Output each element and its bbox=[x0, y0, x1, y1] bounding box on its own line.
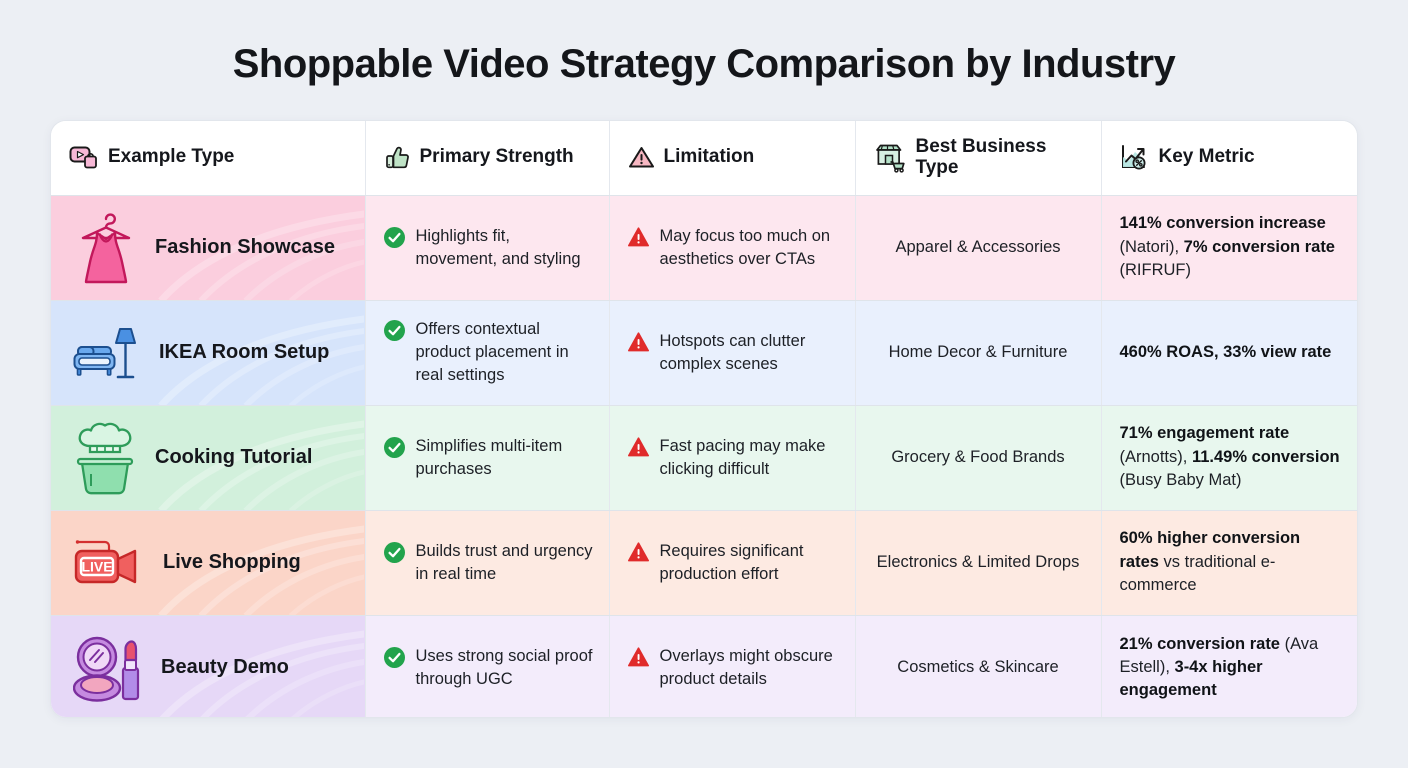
row-label: Cooking Tutorial bbox=[155, 445, 312, 470]
cell-primary-strength: Simplifies multi-item purchases bbox=[365, 405, 609, 510]
warning-triangle-filled-icon bbox=[628, 437, 649, 457]
key-metric-text: 60% higher conversion rates vs tradition… bbox=[1102, 527, 1359, 597]
key-metric-text: 21% conversion rate (Ava Estell), 3-4x h… bbox=[1102, 633, 1359, 703]
cell-limitation: May focus too much on aesthetics over CT… bbox=[609, 195, 855, 300]
sofa-lamp-icon bbox=[73, 317, 143, 389]
warning-triangle-filled-icon bbox=[628, 542, 649, 562]
table-header-row: Example Type bbox=[51, 121, 1358, 195]
table-row: LIVE Live Shopping Builds trust and urge… bbox=[51, 510, 1358, 615]
cell-key-metric: 71% engagement rate (Arnotts), 11.49% co… bbox=[1101, 405, 1358, 510]
cell-text: Hotspots can clutter complex scenes bbox=[660, 330, 841, 376]
cell-text: Requires significant production effort bbox=[660, 540, 841, 586]
row-label: Fashion Showcase bbox=[155, 235, 335, 260]
cell-primary-strength: Uses strong social proof through UGC bbox=[365, 615, 609, 718]
cell-primary-strength: Builds trust and urgency in real time bbox=[365, 510, 609, 615]
cell-best-business-type: Electronics & Limited Drops bbox=[855, 510, 1101, 615]
cell-text: Offers contextual product placement in r… bbox=[416, 318, 595, 386]
table-body: Fashion Showcase Highlights fit, movemen… bbox=[51, 195, 1358, 718]
cell-example-type: LIVE Live Shopping bbox=[51, 510, 365, 615]
cell-best-business-type: Cosmetics & Skincare bbox=[855, 615, 1101, 718]
comparison-table: Example Type bbox=[51, 121, 1358, 718]
column-header-label: Primary Strength bbox=[420, 147, 574, 168]
cell-limitation: Requires significant production effort bbox=[609, 510, 855, 615]
cell-text: Uses strong social proof through UGC bbox=[416, 645, 595, 691]
cell-text: Simplifies multi-item purchases bbox=[416, 435, 595, 481]
cell-example-type: Fashion Showcase bbox=[51, 195, 365, 300]
key-metric-text: 141% conversion increase (Natori), 7% co… bbox=[1102, 212, 1359, 282]
table-row: Beauty Demo Uses strong social proof thr… bbox=[51, 615, 1358, 718]
warning-triangle-filled-icon bbox=[628, 647, 649, 667]
comparison-table-container: Example Type bbox=[50, 120, 1358, 718]
cell-key-metric: 60% higher conversion rates vs tradition… bbox=[1101, 510, 1358, 615]
svg-text:LIVE: LIVE bbox=[81, 558, 112, 574]
cell-limitation: Fast pacing may make clicking difficult bbox=[609, 405, 855, 510]
column-header-example-type: Example Type bbox=[51, 121, 365, 195]
cell-key-metric: 21% conversion rate (Ava Estell), 3-4x h… bbox=[1101, 615, 1358, 718]
infographic-page: Shoppable Video Strategy Comparison by I… bbox=[0, 0, 1408, 768]
check-circle-icon bbox=[384, 542, 405, 563]
check-circle-icon bbox=[384, 647, 405, 668]
column-header-best-business-type: Best Business Type bbox=[855, 121, 1101, 195]
cell-text: Highlights fit, movement, and styling bbox=[416, 225, 595, 271]
cell-primary-strength: Highlights fit, movement, and styling bbox=[365, 195, 609, 300]
table-row: Fashion Showcase Highlights fit, movemen… bbox=[51, 195, 1358, 300]
makeup-compact-lipstick-icon bbox=[73, 630, 145, 706]
key-metric-text: 460% ROAS, 33% view rate bbox=[1102, 341, 1359, 364]
thumbs-up-icon bbox=[384, 145, 411, 171]
row-label: Beauty Demo bbox=[161, 655, 289, 680]
cell-text: Builds trust and urgency in real time bbox=[416, 540, 595, 586]
dress-hanger-icon bbox=[73, 208, 139, 288]
cell-text: Overlays might obscure product details bbox=[660, 645, 841, 691]
cell-limitation: Overlays might obscure product details bbox=[609, 615, 855, 718]
cell-example-type: IKEA Room Setup bbox=[51, 300, 365, 405]
cell-best-business-type: Apparel & Accessories bbox=[855, 195, 1101, 300]
check-circle-icon bbox=[384, 320, 405, 341]
cell-primary-strength: Offers contextual product placement in r… bbox=[365, 300, 609, 405]
row-label: Live Shopping bbox=[163, 550, 301, 575]
cell-text: May focus too much on aesthetics over CT… bbox=[660, 225, 841, 271]
cell-best-business-type: Grocery & Food Brands bbox=[855, 405, 1101, 510]
column-header-label: Example Type bbox=[108, 147, 234, 168]
cell-example-type: Beauty Demo bbox=[51, 615, 365, 718]
check-circle-icon bbox=[384, 437, 405, 458]
row-label: IKEA Room Setup bbox=[159, 340, 329, 365]
column-header-key-metric: Key Metric bbox=[1101, 121, 1358, 195]
column-header-primary-strength: Primary Strength bbox=[365, 121, 609, 195]
chef-hat-pot-icon bbox=[73, 419, 139, 497]
table-row: Cooking Tutorial Simplifies multi-item p… bbox=[51, 405, 1358, 510]
cell-key-metric: 460% ROAS, 33% view rate bbox=[1101, 300, 1358, 405]
column-header-label: Key Metric bbox=[1159, 147, 1255, 168]
chart-percent-icon bbox=[1120, 144, 1150, 171]
column-header-label: Limitation bbox=[664, 147, 755, 168]
page-title: Shoppable Video Strategy Comparison by I… bbox=[0, 0, 1408, 86]
warning-triangle-icon bbox=[628, 145, 655, 170]
column-header-limitation: Limitation bbox=[609, 121, 855, 195]
column-header-label: Best Business Type bbox=[916, 137, 1087, 179]
cell-limitation: Hotspots can clutter complex scenes bbox=[609, 300, 855, 405]
cell-key-metric: 141% conversion increase (Natori), 7% co… bbox=[1101, 195, 1358, 300]
video-shopping-bag-icon bbox=[69, 145, 99, 171]
warning-triangle-filled-icon bbox=[628, 332, 649, 352]
check-circle-icon bbox=[384, 227, 405, 248]
cell-best-business-type: Home Decor & Furniture bbox=[855, 300, 1101, 405]
table-row: IKEA Room Setup Offers contextual produc… bbox=[51, 300, 1358, 405]
storefront-cart-icon bbox=[874, 143, 907, 173]
warning-triangle-filled-icon bbox=[628, 227, 649, 247]
cell-example-type: Cooking Tutorial bbox=[51, 405, 365, 510]
cell-text: Fast pacing may make clicking difficult bbox=[660, 435, 841, 481]
live-video-camera-icon: LIVE bbox=[73, 532, 147, 594]
key-metric-text: 71% engagement rate (Arnotts), 11.49% co… bbox=[1102, 422, 1359, 492]
